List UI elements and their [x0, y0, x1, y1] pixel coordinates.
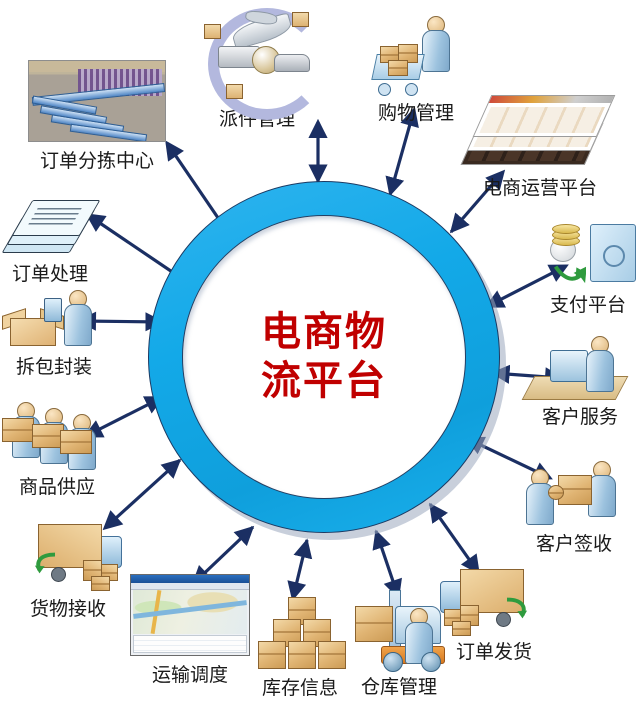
- node-ecom-platform[interactable]: 电商运营平台: [470, 95, 610, 200]
- green-arrow-icon: [554, 262, 586, 284]
- node-unpack-pack[interactable]: 拆包封装: [6, 288, 102, 379]
- node-label-inventory-info: 库存信息: [248, 673, 352, 700]
- node-label-customer-signoff: 客户签收: [522, 529, 626, 556]
- web-pages-stack-icon: [470, 95, 610, 167]
- node-label-order-shipping: 订单发货: [440, 637, 548, 664]
- node-label-order-process: 订单处理: [4, 259, 96, 286]
- conveyor-sorting-photo-icon: [28, 60, 166, 142]
- node-inventory-info[interactable]: 库存信息: [248, 595, 352, 700]
- center-title-line1: 电商物: [261, 308, 387, 357]
- center-title: 电商物 流平台: [148, 181, 500, 533]
- forklift-icon: [347, 588, 451, 672]
- center-title-line2: 流平台: [261, 357, 387, 406]
- green-arrow-icon: [502, 597, 534, 619]
- node-sorting-center[interactable]: 订单分拣中心: [28, 60, 166, 173]
- green-arrow-icon: [28, 552, 60, 574]
- coins-safe-icon: [540, 222, 636, 288]
- link-inventory-info: [293, 540, 307, 598]
- unloading-truck-icon: [14, 520, 122, 590]
- node-label-transport-sched: 运输调度: [130, 660, 250, 687]
- node-label-warehouse-mgmt: 仓库管理: [347, 672, 451, 699]
- node-dispatch-mgmt[interactable]: 派件管理: [198, 6, 316, 131]
- node-shopping-mgmt[interactable]: 购物管理: [372, 10, 460, 125]
- node-goods-supply[interactable]: 商品供应: [2, 398, 112, 499]
- service-desk-icon: [528, 330, 632, 400]
- node-order-shipping[interactable]: 订单发货: [440, 565, 548, 664]
- box-pile-icon: [248, 595, 352, 671]
- node-goods-receipt[interactable]: 货物接收: [14, 520, 122, 621]
- transport-cycle-icon: [204, 6, 316, 102]
- node-order-process[interactable]: 订单处理: [4, 195, 96, 286]
- documents-stack-icon: [10, 195, 96, 253]
- diagram-canvas: 电商物 流平台 订单分拣中心 派件管理: [0, 0, 639, 707]
- packing-person-icon: [6, 288, 102, 350]
- node-customer-signoff[interactable]: 客户签收: [522, 455, 626, 556]
- three-carriers-icon: [2, 398, 112, 472]
- delivery-truck-icon: [440, 565, 548, 635]
- node-warehouse-mgmt[interactable]: 仓库管理: [347, 588, 451, 699]
- node-label-unpack-pack: 拆包封装: [6, 352, 102, 379]
- node-label-goods-receipt: 货物接收: [14, 594, 122, 621]
- node-label-sorting-center: 订单分拣中心: [28, 146, 166, 173]
- package-handover-icon: [522, 455, 626, 527]
- node-label-ecom-platform: 电商运营平台: [470, 173, 610, 200]
- node-label-payment-platform: 支付平台: [540, 290, 636, 317]
- central-ring: 电商物 流平台: [148, 181, 508, 545]
- map-software-icon: [130, 574, 250, 656]
- node-transport-sched[interactable]: 运输调度: [130, 574, 250, 687]
- node-label-shopping-mgmt: 购物管理: [372, 98, 460, 125]
- node-payment-platform[interactable]: 支付平台: [540, 222, 636, 317]
- shopping-cart-person-icon: [372, 10, 460, 98]
- node-label-customer-service: 客户服务: [528, 402, 632, 429]
- node-customer-service[interactable]: 客户服务: [528, 330, 632, 429]
- node-label-goods-supply: 商品供应: [2, 472, 112, 499]
